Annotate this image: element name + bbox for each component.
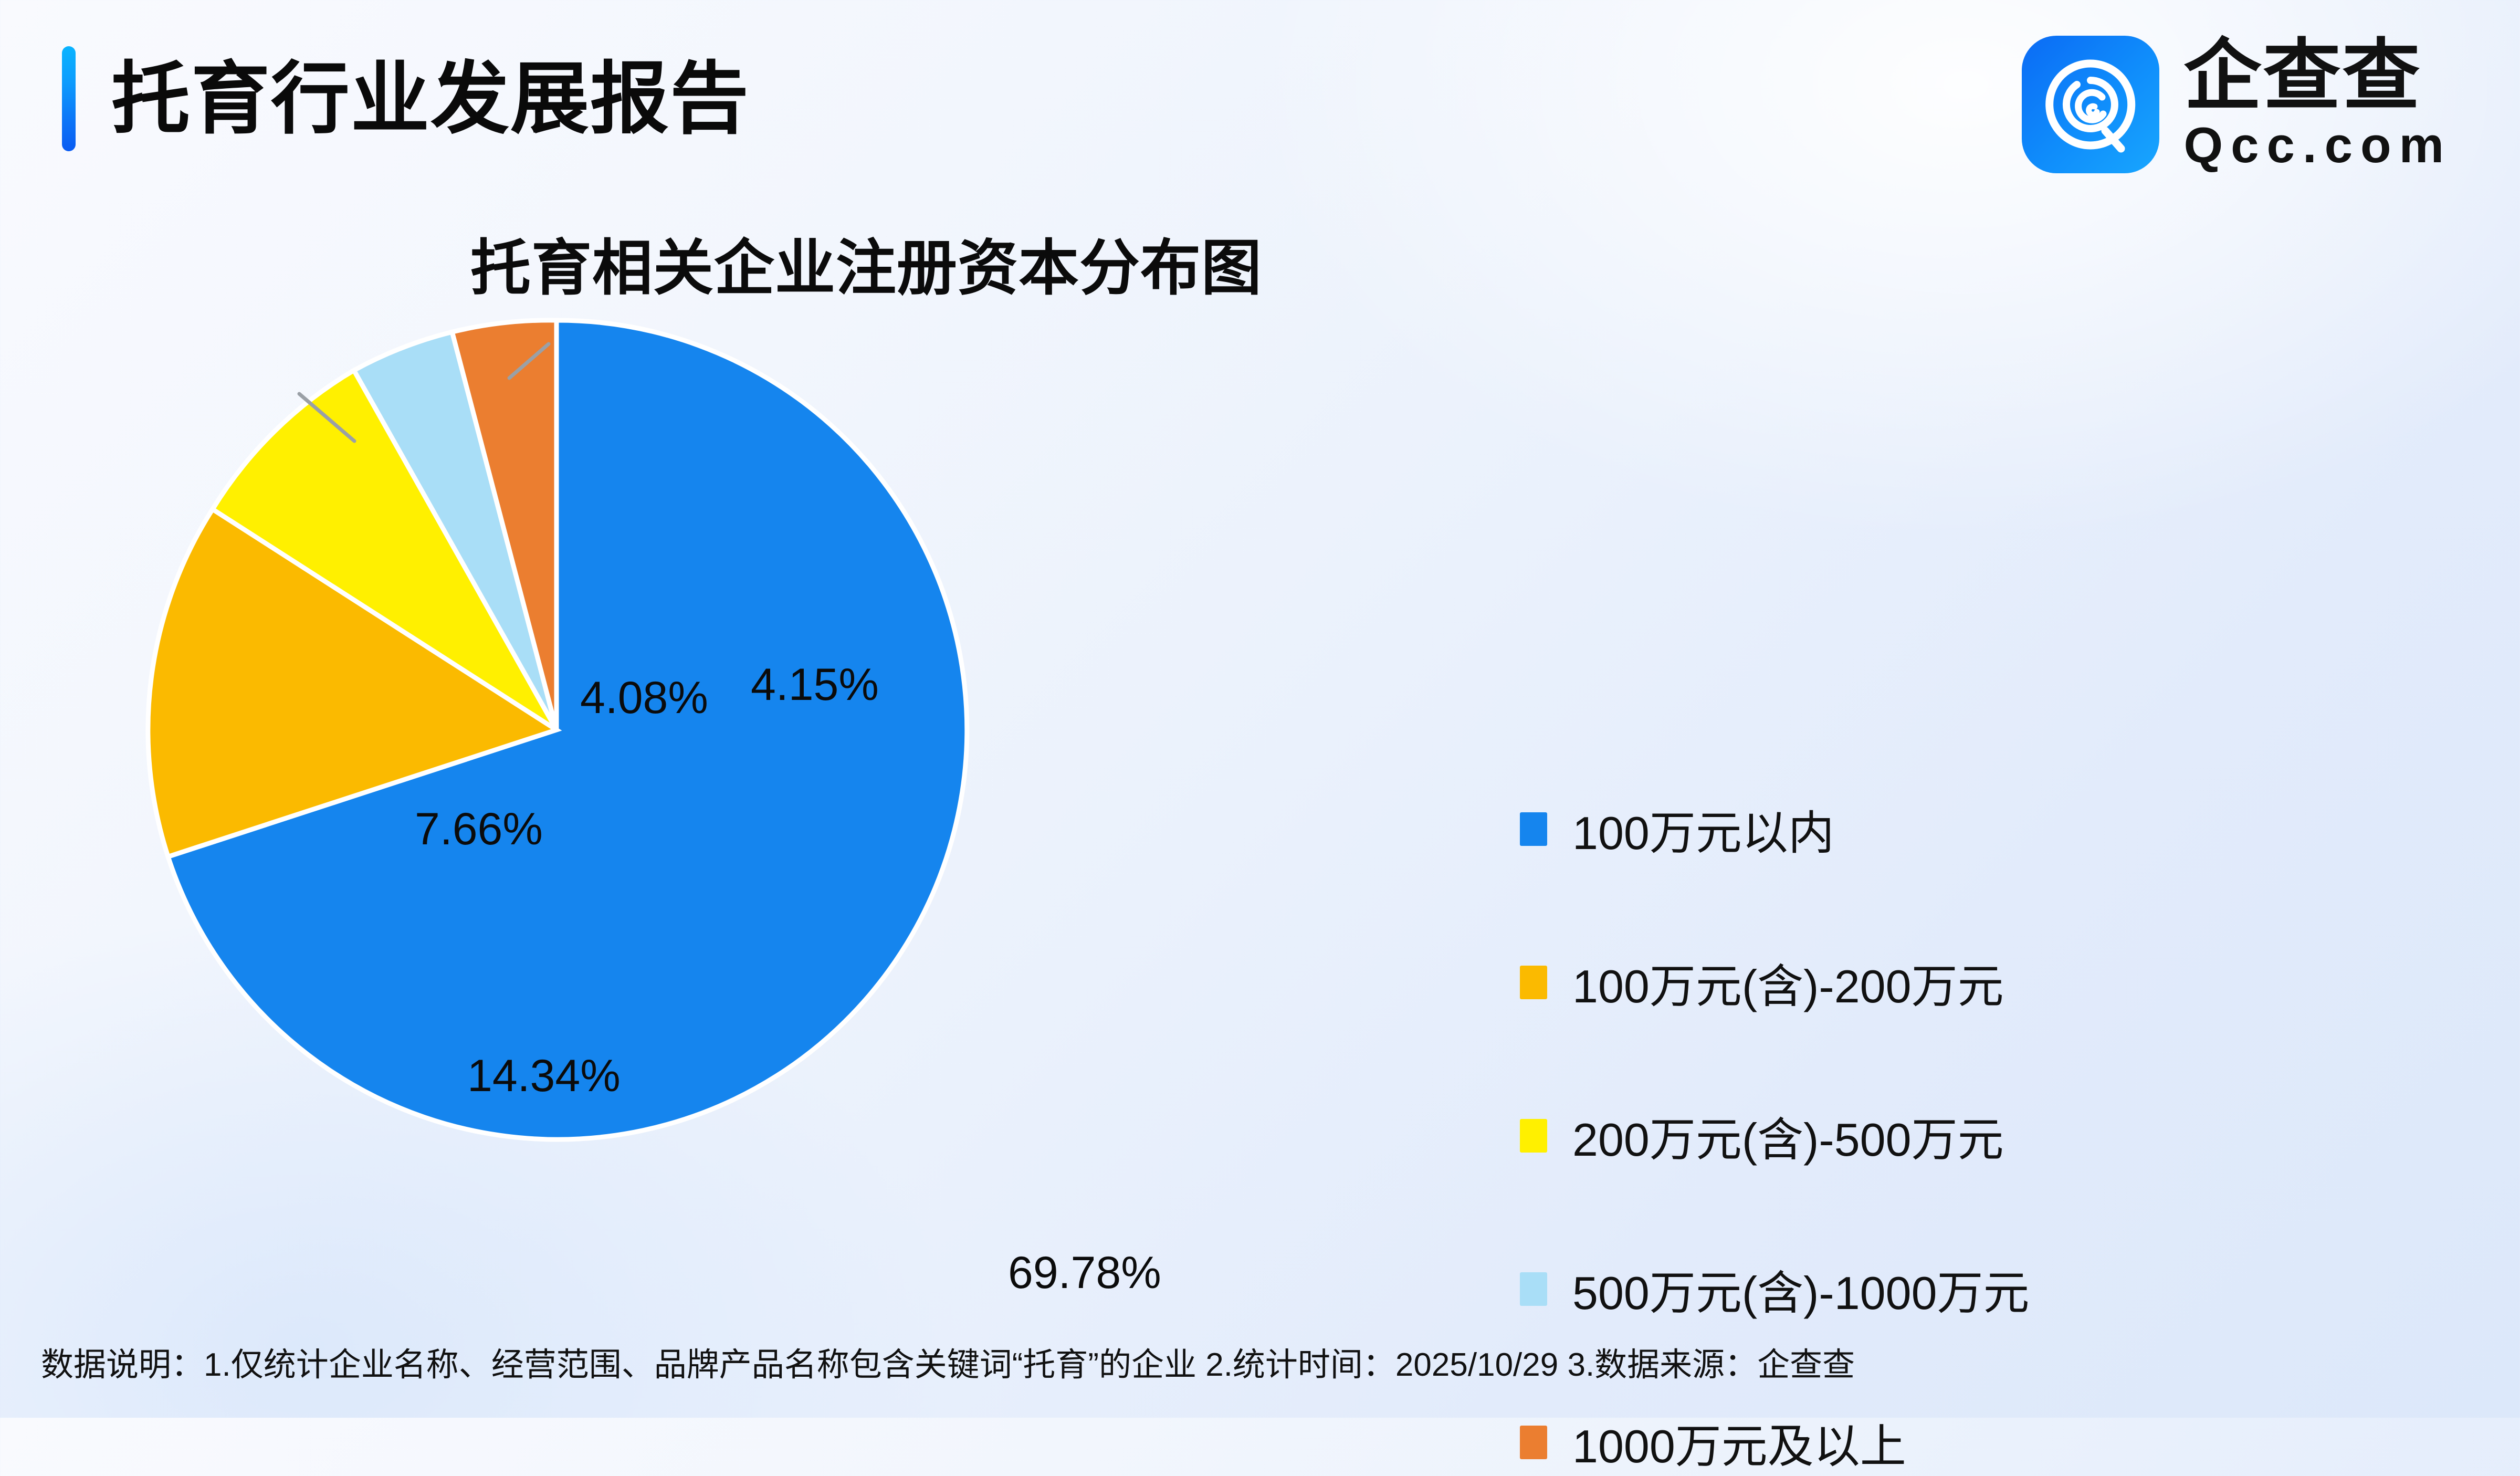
- title-accent-bar: [62, 46, 76, 151]
- legend-swatch-icon: [1520, 812, 1547, 846]
- qcc-spiral-q-logo-icon: [2022, 36, 2159, 173]
- legend-item-100-200[interactable]: 100万元(含)-200万元: [1520, 951, 2307, 1013]
- pie-label-100-within: 69.78%: [1008, 1247, 1161, 1299]
- brand-name-cn: 企查查: [2183, 37, 2452, 116]
- pie-label-200-500: 7.66%: [415, 803, 543, 855]
- page-title: 托育行业发展报告: [111, 59, 750, 138]
- legend-swatch-icon: [1520, 1272, 1547, 1306]
- legend-swatch-icon: [1520, 1119, 1547, 1153]
- legend-item-500-1000[interactable]: 500万元(含)-1000万元: [1520, 1258, 2307, 1320]
- brand-wordmark: 企查查 Qcc.com: [2183, 37, 2452, 172]
- pie-chart: [142, 315, 971, 1145]
- legend-item-100-within[interactable]: 100万元以内: [1520, 798, 2307, 860]
- footer-note: 数据说明：1.仅统计企业名称、经营范围、品牌产品名称包含关键词“托育”的企业 2…: [41, 1338, 1855, 1385]
- legend-label: 200万元(含)-500万元: [1572, 1103, 2004, 1169]
- legend-swatch-icon: [1520, 966, 1547, 999]
- pie-label-1000-above: 4.15%: [751, 659, 879, 711]
- legend-label: 100万元以内: [1572, 796, 1834, 863]
- legend-item-1000-above[interactable]: 1000万元及以上: [1520, 1411, 2307, 1473]
- legend-swatch-icon: [1520, 1426, 1547, 1459]
- chart-container: 69.78% 14.34% 7.66% 4.08% 4.15% 100万元以内 …: [0, 315, 2520, 1271]
- legend-label: 100万元(含)-200万元: [1572, 949, 2004, 1016]
- legend-label: 1000万元及以上: [1572, 1409, 1906, 1476]
- legend-label: 500万元(含)-1000万元: [1572, 1256, 2030, 1323]
- pie-label-100-200: 14.34%: [467, 1050, 621, 1102]
- pie-label-500-1000: 4.08%: [580, 672, 708, 724]
- pie-slices: [148, 320, 967, 1139]
- brand-logo[interactable]: 企查查 Qcc.com: [2022, 36, 2452, 173]
- brand-name-en: Qcc.com: [2183, 119, 2452, 172]
- chart-title: 托育相关企业注册资本分布图: [0, 219, 1732, 307]
- legend-item-200-500[interactable]: 200万元(含)-500万元: [1520, 1105, 2307, 1167]
- page-header: 托育行业发展报告 企查查 Qcc.com: [0, 0, 2520, 173]
- page-title-group: 托育行业发展报告: [62, 46, 750, 151]
